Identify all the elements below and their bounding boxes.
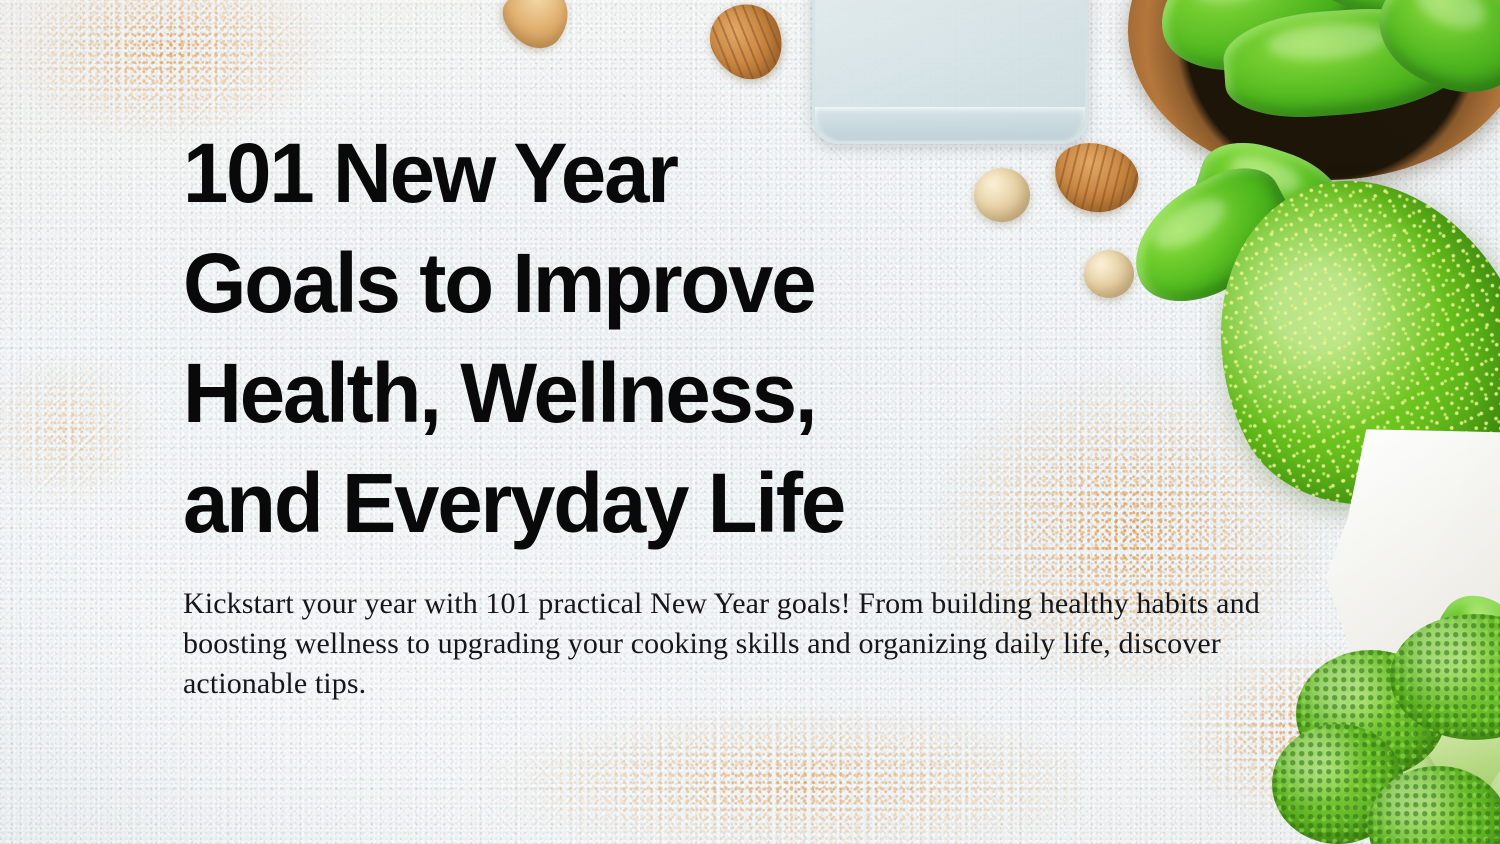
broccoli [1272,606,1500,844]
slide-canvas: 101 New Year Goals to Improve Health, We… [0,0,1500,844]
page-title: 101 New Year Goals to Improve Health, We… [183,118,1260,558]
text-block: 101 New Year Goals to Improve Health, We… [183,118,1293,704]
page-subtitle: Kickstart your year with 101 practical N… [183,584,1295,704]
